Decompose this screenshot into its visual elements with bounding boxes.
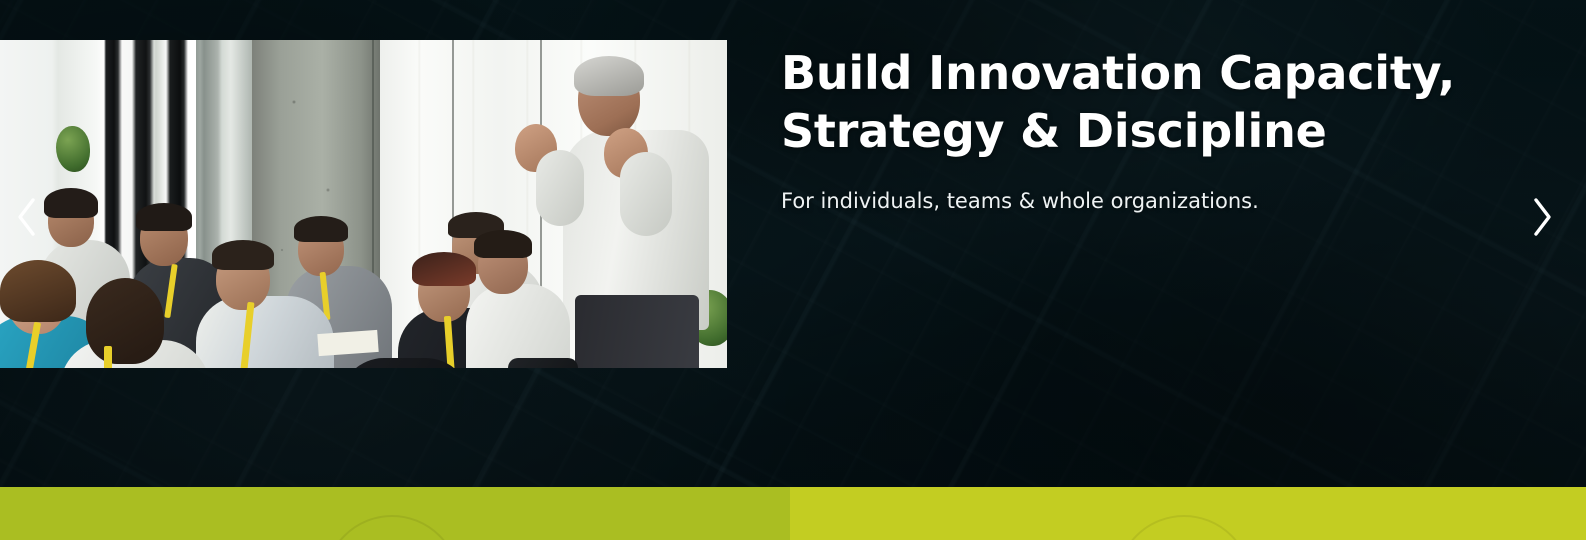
slide-copy: Build Innovation Capacity, Strategy & Di…	[781, 44, 1511, 216]
slide-title: Build Innovation Capacity, Strategy & Di…	[781, 44, 1496, 160]
chevron-right-icon	[1529, 196, 1555, 238]
photo-bag	[508, 358, 578, 368]
right-green-panel[interactable]	[790, 487, 1586, 540]
slide-subtitle: For individuals, teams & whole organizat…	[781, 186, 1511, 216]
chevron-left-icon	[14, 196, 40, 238]
left-green-panel[interactable]	[0, 487, 790, 540]
panel-circle-outline-right	[1116, 515, 1252, 540]
slide-photo	[0, 40, 727, 368]
hero-slider: Build Innovation Capacity, Strategy & Di…	[0, 0, 1586, 540]
panel-circle-outline-left	[324, 515, 460, 540]
photo-papers	[317, 330, 378, 356]
bottom-panel-row	[0, 487, 1586, 540]
photo-plant-left	[56, 126, 90, 172]
carousel-next-button[interactable]	[1518, 193, 1566, 241]
carousel-prev-button[interactable]	[3, 193, 51, 241]
